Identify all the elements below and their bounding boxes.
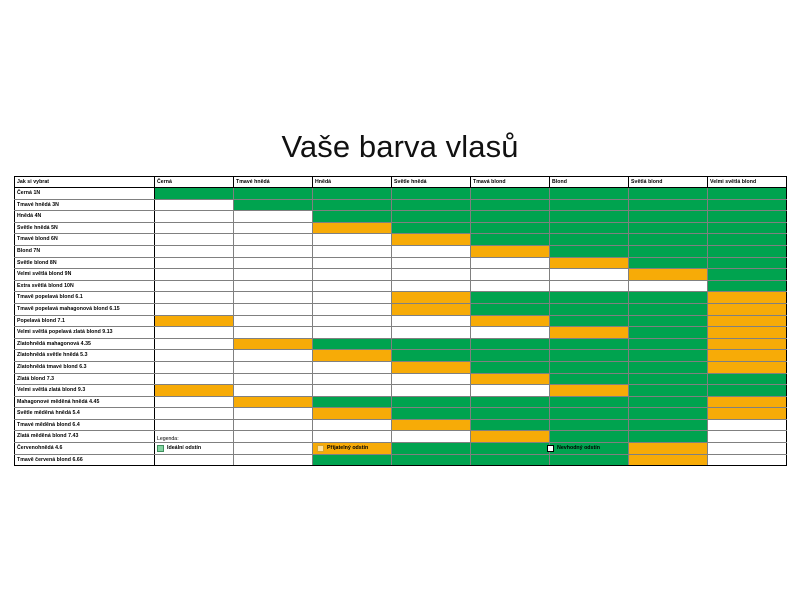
matrix-cell <box>234 257 313 269</box>
matrix-cell <box>313 211 392 223</box>
matrix-cell <box>155 350 234 362</box>
matrix-cell <box>392 211 471 223</box>
matrix-cell <box>155 222 234 234</box>
page-title: Vaše barva vlasů <box>0 128 800 166</box>
matrix-cell <box>629 245 708 257</box>
legend-title: Legenda: <box>157 436 647 442</box>
matrix-cell <box>234 373 313 385</box>
matrix-cell <box>629 419 708 431</box>
matrix-cell <box>708 188 787 200</box>
matrix-cell <box>550 373 629 385</box>
row-label: Světle měděná hnědá 5.4 <box>15 408 155 420</box>
table-row: Černá 1N <box>15 188 787 200</box>
matrix-head: Jak si vybrat ČernáTmavé hnědáHnědáSvětl… <box>15 177 787 188</box>
matrix-cell <box>550 338 629 350</box>
matrix-cell <box>313 385 392 397</box>
matrix-cell <box>629 211 708 223</box>
row-label: Velmi světlá popelavá zlatá blond 9.13 <box>15 327 155 339</box>
row-label: Extra světlá blond 10N <box>15 280 155 292</box>
legend-swatch-icon <box>317 445 324 452</box>
matrix-cell <box>629 222 708 234</box>
matrix-cell <box>550 211 629 223</box>
matrix-cell <box>392 385 471 397</box>
matrix-cell <box>471 327 550 339</box>
matrix-cell <box>629 257 708 269</box>
legend-label: Přijatelný odstín <box>327 445 368 451</box>
matrix-cell <box>708 327 787 339</box>
matrix-cell <box>708 338 787 350</box>
table-row: Popelavá blond 7.1 <box>15 315 787 327</box>
matrix-cell <box>392 419 471 431</box>
matrix-cell <box>234 222 313 234</box>
matrix-cell <box>313 292 392 304</box>
matrix-cell <box>550 327 629 339</box>
column-header-6: Blond <box>550 177 629 188</box>
matrix-cell <box>708 350 787 362</box>
column-header-3: Hnědá <box>313 177 392 188</box>
table-row: Světle blond 8N <box>15 257 787 269</box>
matrix-cell <box>234 292 313 304</box>
matrix-cell <box>155 315 234 327</box>
table-row: Světle měděná hnědá 5.4 <box>15 408 787 420</box>
matrix-cell <box>550 303 629 315</box>
matrix-cell <box>392 361 471 373</box>
matrix-cell <box>392 269 471 281</box>
matrix-cell <box>313 327 392 339</box>
matrix-cell <box>313 222 392 234</box>
matrix-cell <box>313 454 392 466</box>
matrix-cell <box>392 327 471 339</box>
matrix-cell <box>629 361 708 373</box>
matrix-cell <box>392 245 471 257</box>
matrix-cell <box>155 385 234 397</box>
table-row: Extra světlá blond 10N <box>15 280 787 292</box>
matrix-cell <box>708 234 787 246</box>
matrix-cell <box>234 199 313 211</box>
matrix-cell <box>313 257 392 269</box>
table-row: Zlatohnědá tmavé blond 6.3 <box>15 361 787 373</box>
row-label: Tmavě červená blond 6.66 <box>15 454 155 466</box>
corner-header: Jak si vybrat <box>15 177 155 188</box>
matrix-cell <box>234 303 313 315</box>
matrix-cell <box>234 396 313 408</box>
matrix-table: Jak si vybrat ČernáTmavé hnědáHnědáSvětl… <box>14 176 787 466</box>
matrix-cell <box>392 396 471 408</box>
matrix-cell <box>155 292 234 304</box>
matrix-cell <box>155 269 234 281</box>
column-header-8: Velmi světlá blond <box>708 177 787 188</box>
matrix-cell <box>155 327 234 339</box>
matrix-cell <box>708 396 787 408</box>
row-label: Zlatohnědá světle hnědá 5.3 <box>15 350 155 362</box>
matrix-cell <box>629 315 708 327</box>
matrix-cell <box>708 443 787 455</box>
legend-items: Ideální odstínPřijatelný odstínNevhodný … <box>157 445 647 455</box>
matrix-cell <box>155 408 234 420</box>
matrix-cell <box>234 280 313 292</box>
matrix-cell <box>708 199 787 211</box>
table-row: Zlatohnědá světle hnědá 5.3 <box>15 350 787 362</box>
matrix-cell <box>550 199 629 211</box>
matrix-cell <box>471 292 550 304</box>
matrix-cell <box>234 234 313 246</box>
column-header-4: Světle hnědá <box>392 177 471 188</box>
matrix-cell <box>708 431 787 443</box>
matrix-cell <box>155 454 234 466</box>
matrix-cell <box>313 199 392 211</box>
table-row: Tmavě červená blond 6.66 <box>15 454 787 466</box>
matrix-cell <box>313 373 392 385</box>
matrix-cell <box>550 188 629 200</box>
matrix-cell <box>708 373 787 385</box>
matrix-cell <box>471 269 550 281</box>
column-header-1: Černá <box>155 177 234 188</box>
matrix-cell <box>313 408 392 420</box>
matrix-cell <box>550 269 629 281</box>
matrix-cell <box>708 292 787 304</box>
matrix-cell <box>155 280 234 292</box>
matrix-cell <box>234 408 313 420</box>
matrix-cell <box>155 338 234 350</box>
matrix-cell <box>550 408 629 420</box>
matrix-cell <box>471 361 550 373</box>
matrix-cell <box>629 396 708 408</box>
matrix-cell <box>155 245 234 257</box>
row-label: Světle hnědá 5N <box>15 222 155 234</box>
legend-swatch-icon <box>157 445 164 452</box>
row-label: Zlatohnědá tmavé blond 6.3 <box>15 361 155 373</box>
matrix-cell <box>313 350 392 362</box>
matrix-cell <box>708 419 787 431</box>
matrix-cell <box>708 315 787 327</box>
matrix-cell <box>471 385 550 397</box>
matrix-cell <box>708 361 787 373</box>
matrix-cell <box>155 373 234 385</box>
matrix-cell <box>392 257 471 269</box>
matrix-cell <box>629 188 708 200</box>
matrix-cell <box>234 211 313 223</box>
row-label: Červenohnědá 4.6 <box>15 443 155 455</box>
matrix-cell <box>392 292 471 304</box>
column-header-7: Světlá blond <box>629 177 708 188</box>
matrix-cell <box>155 361 234 373</box>
matrix-cell <box>471 315 550 327</box>
row-label: Zlatá měděná blond 7.43 <box>15 431 155 443</box>
row-label: Velmi světlá blond 9N <box>15 269 155 281</box>
matrix-cell <box>550 292 629 304</box>
legend-item-acceptable: Přijatelný odstín <box>317 445 368 452</box>
matrix-cell <box>708 245 787 257</box>
matrix-cell <box>234 338 313 350</box>
matrix-cell <box>392 188 471 200</box>
matrix-cell <box>629 199 708 211</box>
matrix-cell <box>313 245 392 257</box>
matrix-cell <box>629 234 708 246</box>
legend-item-unsuitable: Nevhodný odstín <box>547 445 600 452</box>
matrix-cell <box>471 338 550 350</box>
matrix-cell <box>550 419 629 431</box>
legend-label: Ideální odstín <box>167 445 201 451</box>
matrix-cell <box>471 408 550 420</box>
matrix-body: Černá 1NTmavé hnědá 3NHnědá 4NSvětle hně… <box>15 188 787 466</box>
matrix-cell <box>629 373 708 385</box>
matrix-cell <box>471 419 550 431</box>
matrix-cell <box>313 269 392 281</box>
matrix-cell <box>392 303 471 315</box>
matrix-cell <box>629 269 708 281</box>
matrix-cell <box>550 350 629 362</box>
matrix-cell <box>629 292 708 304</box>
table-row: Velmi světlá popelavá zlatá blond 9.13 <box>15 327 787 339</box>
table-row: Mahagonové měděná hnědá 4.45 <box>15 396 787 408</box>
matrix-cell <box>392 338 471 350</box>
table-row: Tmavě popelavá blond 6.1 <box>15 292 787 304</box>
matrix-cell <box>629 327 708 339</box>
matrix-cell <box>313 419 392 431</box>
matrix-cell <box>155 257 234 269</box>
row-label: Velmi světlá zlatá blond 9.3 <box>15 385 155 397</box>
matrix-cell <box>155 396 234 408</box>
matrix-cell <box>471 211 550 223</box>
matrix-cell <box>155 211 234 223</box>
row-label: Tmavé měděná blond 6.4 <box>15 419 155 431</box>
matrix-cell <box>234 315 313 327</box>
matrix-cell <box>234 188 313 200</box>
matrix-cell <box>313 234 392 246</box>
matrix-cell <box>629 303 708 315</box>
matrix-cell <box>471 350 550 362</box>
matrix-cell <box>392 234 471 246</box>
table-row: Tmavé měděná blond 6.4 <box>15 419 787 431</box>
matrix-cell <box>550 385 629 397</box>
matrix-cell <box>392 373 471 385</box>
matrix-cell <box>471 454 550 466</box>
matrix-cell <box>550 280 629 292</box>
matrix-cell <box>392 350 471 362</box>
matrix-cell <box>234 419 313 431</box>
matrix-cell <box>313 396 392 408</box>
table-row: Tmavé hnědá 3N <box>15 199 787 211</box>
matrix-cell <box>629 280 708 292</box>
table-row: Zlatá blond 7.3 <box>15 373 787 385</box>
matrix-cell <box>392 222 471 234</box>
matrix-cell <box>313 315 392 327</box>
matrix-cell <box>471 234 550 246</box>
matrix-cell <box>155 188 234 200</box>
matrix-cell <box>392 315 471 327</box>
matrix-cell <box>550 245 629 257</box>
row-label: Tmavě popelavá blond 6.1 <box>15 292 155 304</box>
matrix-cell <box>392 280 471 292</box>
matrix-cell <box>155 199 234 211</box>
header-row: Jak si vybrat ČernáTmavé hnědáHnědáSvětl… <box>15 177 787 188</box>
matrix-cell <box>313 280 392 292</box>
matrix-cell <box>313 338 392 350</box>
legend: Legenda: Ideální odstínPřijatelný odstín… <box>157 436 647 455</box>
legend-swatch-icon <box>547 445 554 452</box>
matrix-cell <box>155 419 234 431</box>
matrix-cell <box>550 222 629 234</box>
slide-canvas: Vaše barva vlasů Jak si vybrat ČernáTmav… <box>0 0 800 600</box>
matrix-cell <box>471 280 550 292</box>
matrix-cell <box>234 327 313 339</box>
matrix-cell <box>234 245 313 257</box>
matrix-cell <box>629 454 708 466</box>
matrix-cell <box>708 269 787 281</box>
matrix-cell <box>471 373 550 385</box>
matrix-cell <box>629 408 708 420</box>
matrix-cell <box>550 315 629 327</box>
row-label: Tmavé hnědá 3N <box>15 199 155 211</box>
column-header-5: Tmavá blond <box>471 177 550 188</box>
matrix-cell <box>234 385 313 397</box>
matrix-cell <box>550 454 629 466</box>
table-row: Velmi světlá blond 9N <box>15 269 787 281</box>
matrix-cell <box>392 408 471 420</box>
matrix-cell <box>708 211 787 223</box>
table-row: Hnědá 4N <box>15 211 787 223</box>
row-label: Blond 7N <box>15 245 155 257</box>
matrix-cell <box>313 188 392 200</box>
matrix-cell <box>629 338 708 350</box>
matrix-cell <box>708 454 787 466</box>
row-label: Popelavá blond 7.1 <box>15 315 155 327</box>
legend-label: Nevhodný odstín <box>557 445 600 451</box>
row-label: Zlatohnědá mahagonová 4.35 <box>15 338 155 350</box>
matrix-cell <box>708 280 787 292</box>
row-label: Hnědá 4N <box>15 211 155 223</box>
matrix-cell <box>708 257 787 269</box>
matrix-cell <box>234 350 313 362</box>
matrix-cell <box>155 234 234 246</box>
matrix-cell <box>234 454 313 466</box>
row-label: Tmavě popelavá mahagonová blond 6.15 <box>15 303 155 315</box>
table-row: Zlatohnědá mahagonová 4.35 <box>15 338 787 350</box>
matrix-cell <box>708 222 787 234</box>
matrix-cell <box>471 257 550 269</box>
column-header-2: Tmavé hnědá <box>234 177 313 188</box>
table-row: Tmavě popelavá mahagonová blond 6.15 <box>15 303 787 315</box>
matrix-cell <box>708 408 787 420</box>
row-label: Mahagonové měděná hnědá 4.45 <box>15 396 155 408</box>
matrix-cell <box>471 199 550 211</box>
matrix-cell <box>155 303 234 315</box>
matrix-cell <box>550 257 629 269</box>
matrix-cell <box>629 350 708 362</box>
matrix-cell <box>471 222 550 234</box>
matrix-cell <box>471 396 550 408</box>
row-label: Zlatá blond 7.3 <box>15 373 155 385</box>
legend-item-ideal: Ideální odstín <box>157 445 201 452</box>
matrix-cell <box>234 269 313 281</box>
row-label: Světle blond 8N <box>15 257 155 269</box>
matrix-cell <box>550 234 629 246</box>
table-row: Velmi světlá zlatá blond 9.3 <box>15 385 787 397</box>
row-label: Tmavé blond 6N <box>15 234 155 246</box>
matrix-cell <box>629 385 708 397</box>
table-row: Světle hnědá 5N <box>15 222 787 234</box>
matrix-cell <box>708 303 787 315</box>
hair-color-matrix: Jak si vybrat ČernáTmavé hnědáHnědáSvětl… <box>14 176 786 466</box>
matrix-cell <box>550 396 629 408</box>
matrix-cell <box>471 188 550 200</box>
matrix-cell <box>708 385 787 397</box>
matrix-cell <box>471 245 550 257</box>
table-row: Blond 7N <box>15 245 787 257</box>
row-label: Černá 1N <box>15 188 155 200</box>
matrix-cell <box>550 361 629 373</box>
matrix-cell <box>392 199 471 211</box>
matrix-cell <box>392 454 471 466</box>
table-row: Tmavé blond 6N <box>15 234 787 246</box>
matrix-cell <box>313 303 392 315</box>
matrix-cell <box>313 361 392 373</box>
matrix-cell <box>471 303 550 315</box>
matrix-cell <box>234 361 313 373</box>
